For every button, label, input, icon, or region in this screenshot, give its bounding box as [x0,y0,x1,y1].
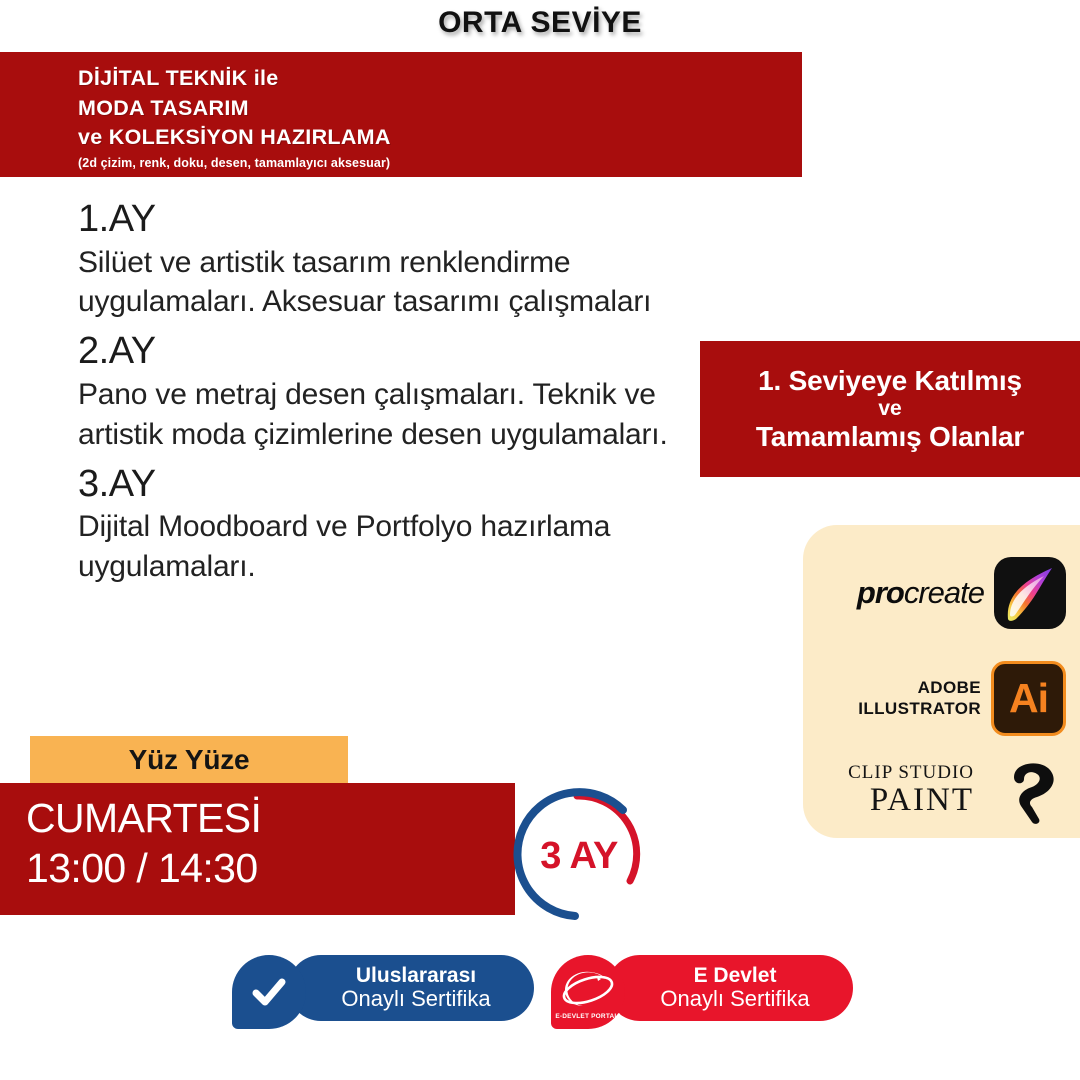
certificate-badge-international: Uluslararası Onaylı Sertifika [232,955,534,1021]
syllabus-item-1: 1.AY Silüet ve artistik tasarım renklend… [78,198,718,322]
adobe-illustrator-label: ADOBE ILLUSTRATOR [858,678,981,718]
clip-studio-paint-label-line-1: CLIP STUDIO [848,763,974,782]
procreate-wordmark: procreate [857,575,984,611]
clip-studio-paint-label-line-2: PAINT [848,784,974,817]
course-title-line-2: MODA TASARIM [78,94,802,124]
course-title-band: DİJİTAL TEKNİK ile MODA TASARIM ve KOLEK… [0,52,802,177]
procreate-icon [994,557,1066,629]
software-item-procreate: procreate [813,557,1066,629]
syllabus-item-2: 2.AY Pano ve metraj desen çalışmaları. T… [78,330,718,454]
procreate-wordmark-bold: pro [857,575,904,610]
software-panel: procreate [803,525,1080,838]
edevlet-icon: E-DEVLET PORTALI [551,955,625,1029]
procreate-wordmark-light: create [904,575,984,610]
prerequisite-line-2: ve [756,397,1024,421]
syllabus-month-label: 1.AY [78,198,718,241]
software-item-adobe-illustrator: ADOBE ILLUSTRATOR Ai [813,661,1066,736]
syllabus-month-description: Pano ve metraj desen çalışmaları. Teknik… [78,375,718,455]
duration-badge: 3 AY [505,786,645,926]
course-subtitle: (2d çizim, renk, doku, desen, tamamlayıc… [78,156,802,170]
clip-studio-paint-label: CLIP STUDIO PAINT [848,763,974,817]
syllabus-month-description: Silüet ve artistik tasarım renklendirme … [78,243,718,323]
adobe-illustrator-icon-text: Ai [1009,675,1048,722]
certificate-pill: Uluslararası Onaylı Sertifika [288,955,534,1021]
adobe-illustrator-icon: Ai [991,661,1066,736]
syllabus-month-description: Dijital Moodboard ve Portfolyo hazırlama… [78,507,718,587]
course-flyer: ORTA SEVİYE DİJİTAL TEKNİK ile MODA TASA… [0,0,1080,1080]
adobe-illustrator-label-line-1: ADOBE [858,678,981,698]
level-title: ORTA SEVİYE [0,6,1080,40]
clip-studio-paint-icon [992,753,1066,827]
software-item-clip-studio-paint: CLIP STUDIO PAINT [811,753,1066,827]
format-tag-label: Yüz Yüze [129,744,250,776]
course-title-line-3: ve KOLEKSİYON HAZIRLAMA [78,123,802,153]
schedule-time: 13:00 / 14:30 [26,843,515,893]
syllabus-month-label: 3.AY [78,463,718,506]
syllabus-list: 1.AY Silüet ve artistik tasarım renklend… [78,198,718,595]
schedule-bar: CUMARTESİ 13:00 / 14:30 [0,783,515,915]
certificate-pill: E Devlet Onaylı Sertifika [607,955,853,1021]
duration-label: 3 AY [505,786,645,926]
syllabus-month-label: 2.AY [78,330,718,373]
syllabus-item-3: 3.AY Dijital Moodboard ve Portfolyo hazı… [78,463,718,587]
adobe-illustrator-label-line-2: ILLUSTRATOR [858,699,981,719]
prerequisite-line-1: 1. Seviyeye Katılmış [756,365,1024,397]
check-icon [232,955,306,1029]
course-title-line-1: DİJİTAL TEKNİK ile [78,64,802,94]
certificate-title: Uluslararası [356,965,476,987]
edevlet-icon-caption: E-DEVLET PORTALI [551,1013,625,1020]
certificate-title: E Devlet [694,965,777,987]
certificate-subtitle: Onaylı Sertifika [341,987,490,1011]
prerequisite-line-3: Tamamlamış Olanlar [756,421,1024,453]
schedule-day: CUMARTESİ [26,793,515,843]
certificate-subtitle: Onaylı Sertifika [660,987,809,1011]
certificate-badge-edevlet: E Devlet Onaylı Sertifika E-DEVLET PORTA… [551,955,853,1021]
prerequisite-badge: 1. Seviyeye Katılmış ve Tamamlamış Olanl… [700,341,1080,477]
format-tag: Yüz Yüze [30,736,348,783]
